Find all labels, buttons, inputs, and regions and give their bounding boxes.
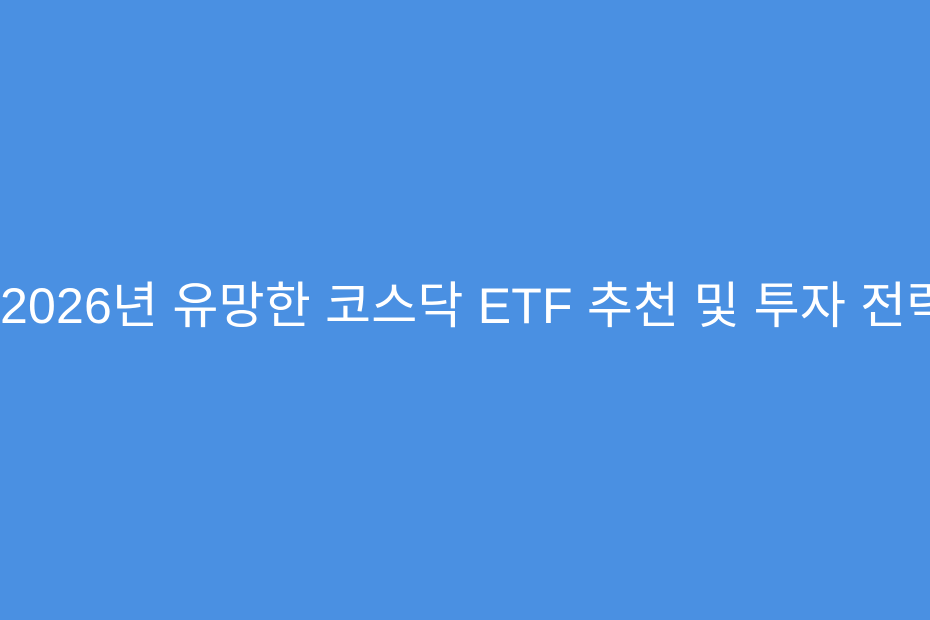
banner-title: 2026년 유망한 코스닥 ETF 추천 및 투자 전략 — [0, 281, 930, 331]
banner-container: 2026년 유망한 코스닥 ETF 추천 및 투자 전략 — [0, 0, 930, 620]
